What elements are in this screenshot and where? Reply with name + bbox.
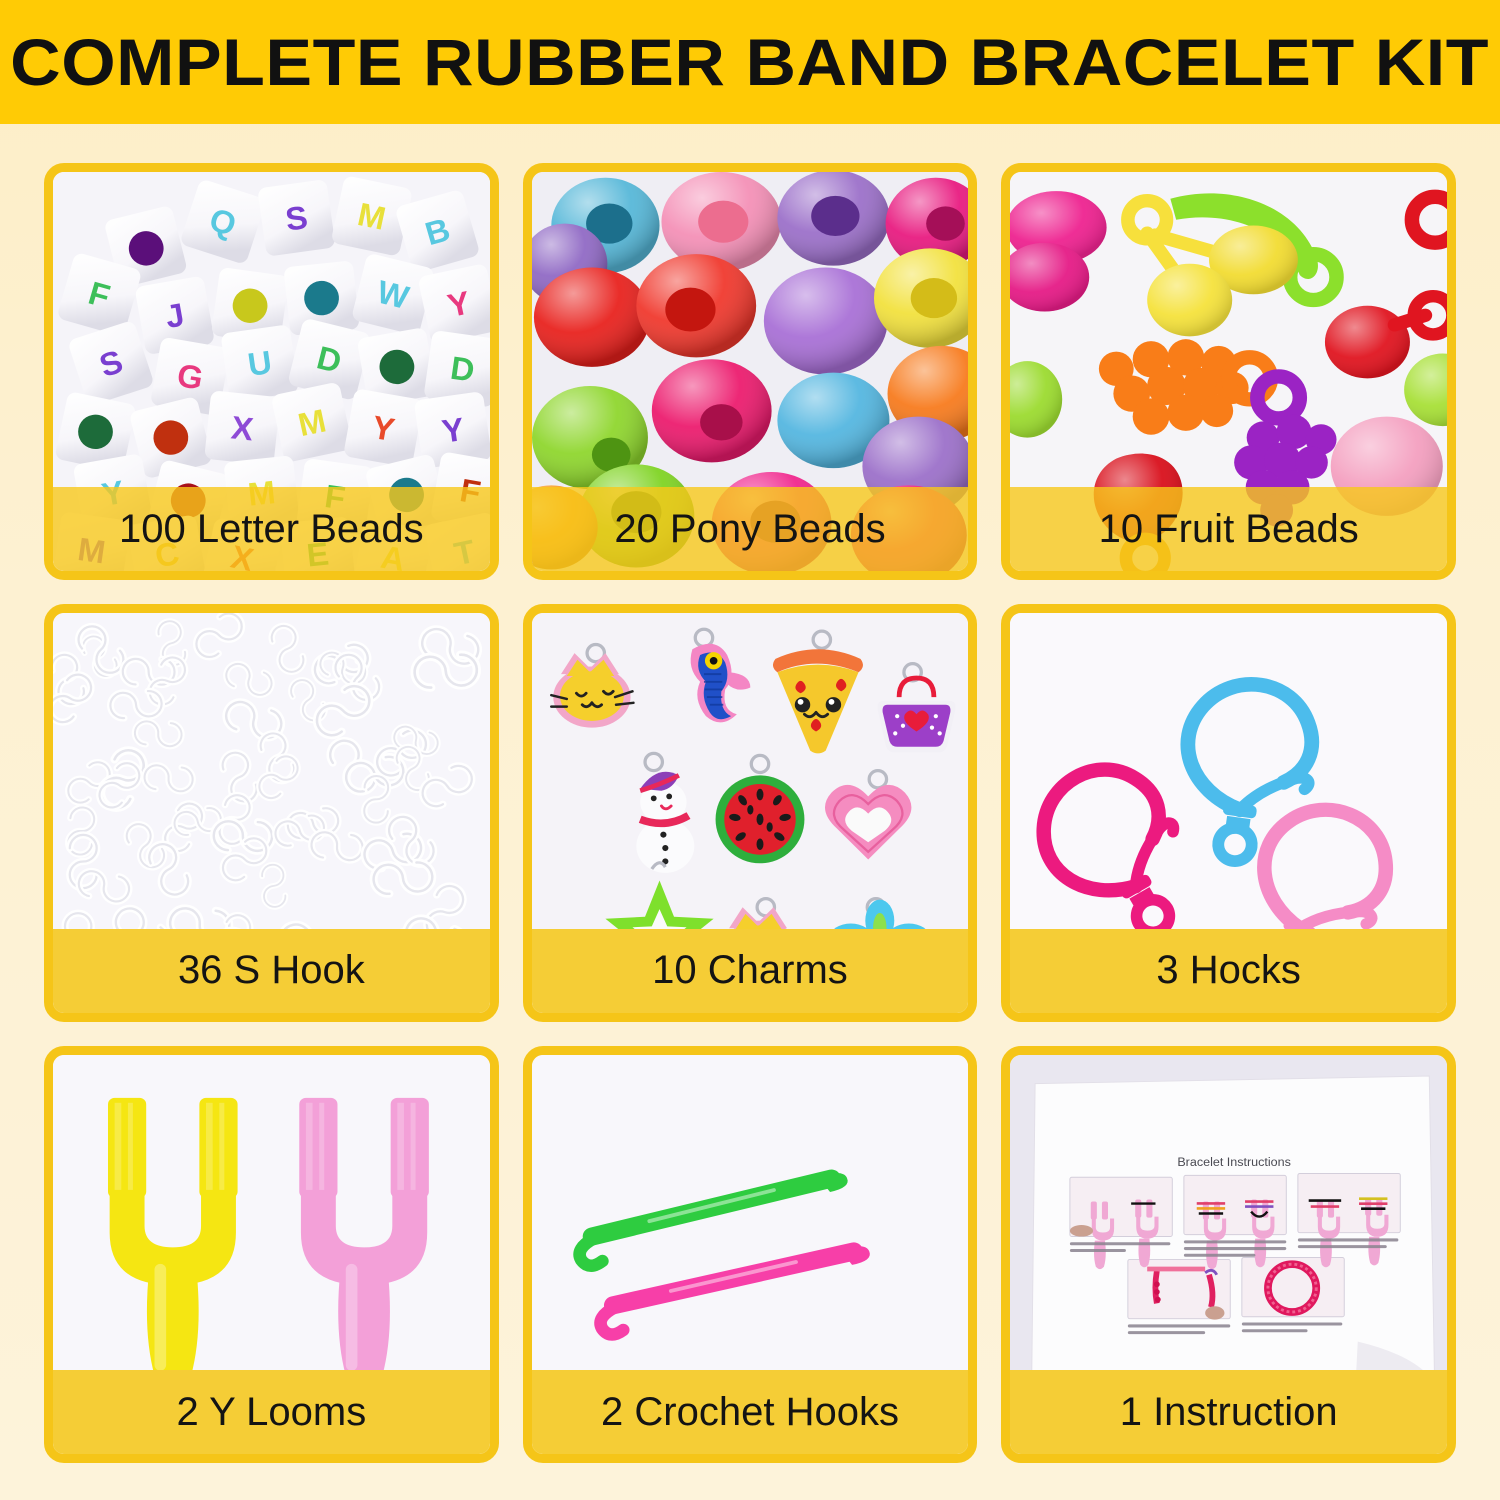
card-label-band: 36 S Hook: [53, 929, 490, 1013]
charm-heart: [825, 771, 911, 860]
card-label: 3 Hocks: [1156, 948, 1301, 993]
card-label: 2 Y Looms: [176, 1390, 366, 1435]
page-title: COMPLETE RUBBER BAND BRACELET KIT: [11, 24, 1490, 100]
card-label: 36 S Hook: [178, 948, 365, 993]
card-y-looms[interactable]: 2 Y Looms: [44, 1046, 499, 1463]
card-label: 2 Crochet Hooks: [601, 1390, 899, 1435]
card-letter-beads[interactable]: Q S M B F J W Y S G U: [44, 163, 499, 580]
card-hocks[interactable]: 3 Hocks: [1001, 604, 1456, 1021]
charm-handbag: [877, 664, 955, 753]
card-label-band: 10 Fruit Beads: [1010, 487, 1447, 571]
card-label: 10 Charms: [652, 948, 848, 993]
card-pony-beads[interactable]: 20 Pony Beads: [523, 163, 978, 580]
card-label-band: 10 Charms: [532, 929, 969, 1013]
charm-pizza-slice: [773, 631, 863, 753]
charm-snowman: [636, 754, 694, 873]
card-label: 10 Fruit Beads: [1099, 507, 1359, 552]
grapes-orange: [1099, 339, 1271, 435]
card-label: 20 Pony Beads: [614, 507, 885, 552]
card-fruit-beads[interactable]: 10 Fruit Beads: [1001, 163, 1456, 580]
svg-text:X: X: [229, 409, 255, 448]
charm-cat-face-yellow: [551, 645, 633, 728]
card-label-band: 100 Letter Beads: [53, 487, 490, 571]
card-label-band: 1 Instruction: [1010, 1370, 1447, 1454]
loop-red: [1412, 197, 1447, 243]
card-s-hooks[interactable]: 36 S Hook: [44, 604, 499, 1021]
charm-watermelon: [715, 756, 804, 864]
header-banner: COMPLETE RUBBER BAND BRACELET KIT: [0, 0, 1500, 124]
card-label-band: 2 Crochet Hooks: [532, 1370, 969, 1454]
card-label: 100 Letter Beads: [119, 507, 424, 552]
card-label: 1 Instruction: [1120, 1390, 1338, 1435]
card-crochet-hooks[interactable]: 2 Crochet Hooks: [523, 1046, 978, 1463]
card-label-band: 3 Hocks: [1010, 929, 1447, 1013]
charm-seahorse: [690, 630, 750, 723]
sheet-title: Bracelet Instructions: [1178, 1155, 1292, 1169]
card-label-band: 20 Pony Beads: [532, 487, 969, 571]
product-infographic: COMPLETE RUBBER BAND BRACELET KIT: [0, 0, 1500, 1500]
cherry-pink: [1010, 191, 1107, 311]
card-instruction[interactable]: Bracelet Instructions: [1001, 1046, 1456, 1463]
card-label-band: 2 Y Looms: [53, 1370, 490, 1454]
card-charms[interactable]: 10 Charms: [523, 604, 978, 1021]
product-grid: Q S M B F J W Y S G U: [44, 163, 1456, 1463]
